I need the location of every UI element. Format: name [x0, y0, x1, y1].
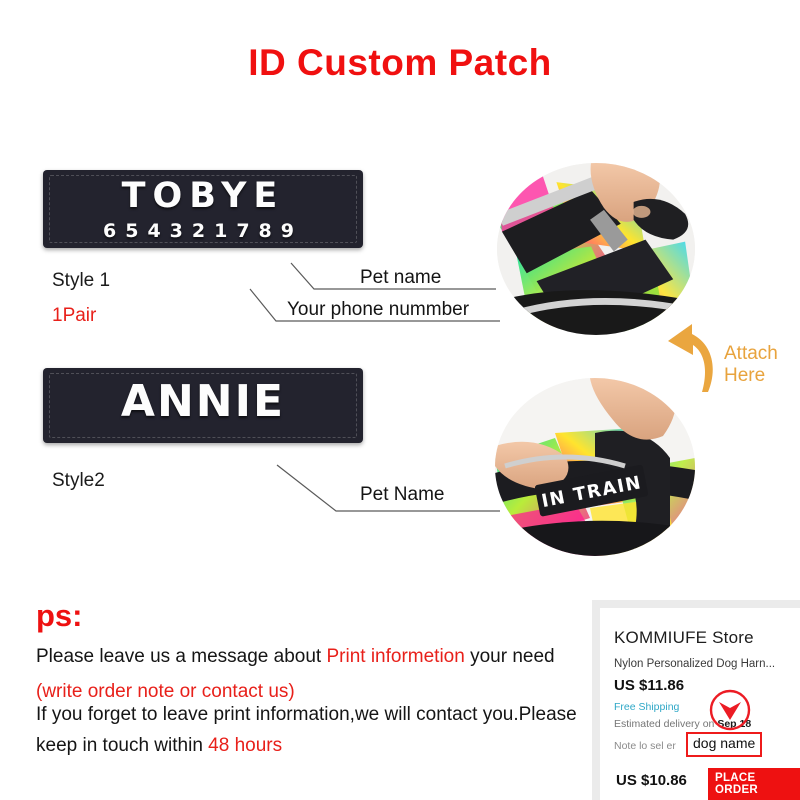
place-order-button[interactable]: PLACE ORDER — [708, 768, 800, 800]
estimated-delivery-prefix: Estimated delivery on — [614, 718, 717, 730]
ps-line-4: keep in touch within 48 hours — [36, 735, 282, 757]
page-title: ID Custom Patch — [0, 42, 800, 84]
patch-phone-text: 654321789 — [43, 220, 363, 242]
discounted-price: US $10.86 — [616, 772, 687, 789]
note-to-seller-value: dog name — [693, 735, 755, 751]
ps-line-4-highlight: 48 hours — [208, 735, 282, 756]
ps-line-1-highlight: Print informetion — [326, 646, 464, 667]
product-photo-patch-attach: IN TRAIN — [495, 378, 695, 556]
style-1-pair-label: 1Pair — [52, 305, 96, 327]
callout-pet-name-1: Pet name — [360, 267, 441, 289]
store-order-card: KOMMIUFE Store Nylon Personalized Dog Ha… — [592, 600, 800, 800]
ps-line-1: Please leave us a message about Print in… — [36, 646, 555, 668]
ps-heading: ps: — [36, 598, 83, 634]
free-shipping-label: Free Shipping — [614, 701, 679, 713]
patch-sample-style-1: TOBYE 654321789 — [43, 170, 363, 248]
ps-line-1-part-c: your need — [465, 646, 555, 667]
style-2-label: Style2 — [52, 470, 105, 492]
product-price: US $11.86 — [614, 677, 684, 694]
ps-line-2: (write order note or contact us) — [36, 681, 295, 703]
ps-line-4-part-a: keep in touch within — [36, 735, 208, 756]
ps-line-1-part-a: Please leave us a message about — [36, 646, 326, 667]
product-photo-harness-closeup — [497, 163, 695, 335]
product-title[interactable]: Nylon Personalized Dog Harn... — [614, 658, 775, 670]
store-card-panel: KOMMIUFE Store Nylon Personalized Dog Ha… — [600, 608, 800, 800]
patch-sample-style-2: ANNIE — [43, 368, 363, 443]
patch-name-text: ANNIE — [43, 376, 363, 427]
style-1-label: Style 1 — [52, 270, 110, 292]
infographic-canvas: ID Custom Patch TOBYE 654321789 Style 1 … — [0, 0, 800, 800]
curved-arrow-up-left-icon — [662, 322, 722, 394]
attach-here-line1: Attach — [724, 343, 778, 365]
ps-line-3: If you forget to leave print information… — [36, 704, 577, 726]
callout-phone-number: Your phone nummber — [287, 299, 469, 321]
note-to-seller-label: Note lo sel er — [614, 740, 676, 752]
red-circle-chevron-down-icon — [708, 688, 752, 732]
attach-here-line2: Here — [724, 365, 778, 387]
callout-pet-name-2: Pet Name — [360, 484, 444, 506]
attach-here-label: Attach Here — [724, 343, 778, 387]
patch-name-text: TOBYE — [43, 176, 363, 216]
store-name: KOMMIUFE Store — [614, 628, 754, 648]
note-to-seller-field[interactable]: dog name — [686, 732, 762, 757]
